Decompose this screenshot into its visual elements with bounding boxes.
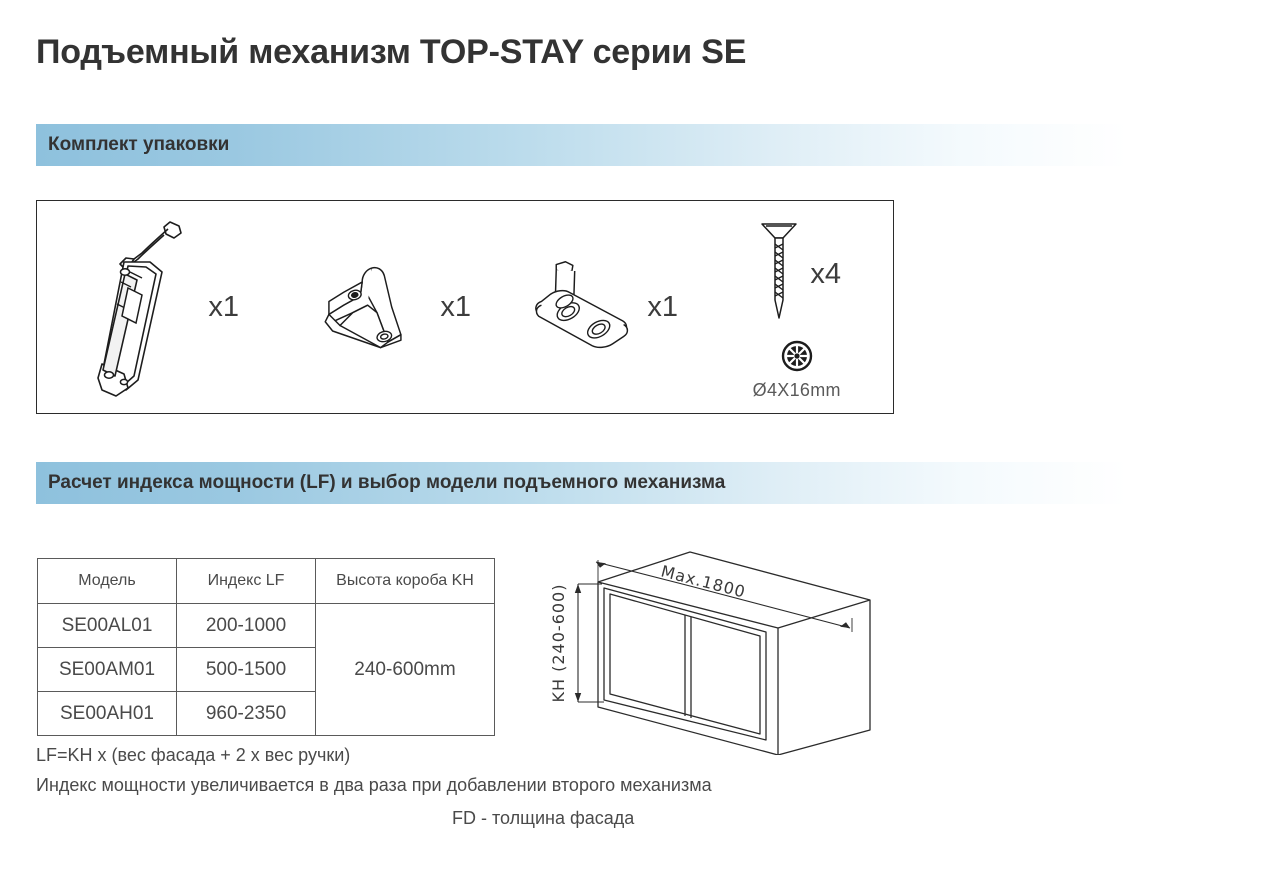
part-quantity-screw: x4 <box>810 258 841 291</box>
part-item-lift-mechanism: x1 <box>37 201 286 413</box>
table-header-row: Модель Индекс LF Высота короба KH <box>38 559 495 604</box>
front-fixing-plate-icon <box>523 212 643 402</box>
cell-model-1: SE00AM01 <box>38 648 177 692</box>
mounting-bracket-icon <box>316 212 436 402</box>
cell-model-0: SE00AL01 <box>38 604 177 648</box>
section-header-package: Комплект упаковки <box>36 124 1128 166</box>
screw-group: x4 Ø4X16mm <box>752 214 841 401</box>
cell-index-1: 500-1500 <box>177 648 316 692</box>
pozidriv-head-icon <box>777 336 817 376</box>
note-front-thickness: FD - толщина фасада <box>452 808 634 829</box>
table-row: SE00AL01 200-1000 240-600mm <box>38 604 495 648</box>
column-header-height: Высота короба KH <box>316 559 495 604</box>
part-item-mounting-bracket: x1 <box>286 201 501 413</box>
cell-index-2: 960-2350 <box>177 692 316 736</box>
part-item-screw: x4 Ø4X16mm <box>700 201 893 413</box>
parts-row: x1 x1 <box>37 201 893 413</box>
column-header-model: Модель <box>38 559 177 604</box>
cabinet-diagram: Max.1800 KH (240-600) <box>530 540 890 755</box>
cell-index-0: 200-1000 <box>177 604 316 648</box>
cell-height-merged: 240-600mm <box>316 604 495 736</box>
screw-icon <box>752 214 806 336</box>
section-header-lf-label: Расчет индекса мощности (LF) и выбор мод… <box>48 472 725 494</box>
note-lf-formula: LF=KH x (вес фасада + 2 x вес ручки) <box>36 745 350 766</box>
section-header-lf: Расчет индекса мощности (LF) и выбор мод… <box>36 462 1128 504</box>
screw-line: x4 <box>752 214 841 336</box>
part-quantity-front-fixing-plate: x1 <box>647 291 678 324</box>
part-quantity-mounting-bracket: x1 <box>440 291 471 324</box>
part-item-front-fixing-plate: x1 <box>501 201 701 413</box>
page-title: Подъемный механизм TOP-STAY серии SE <box>36 33 746 72</box>
section-header-package-label: Комплект упаковки <box>48 134 229 156</box>
screw-specification: Ø4X16mm <box>753 380 841 401</box>
note-double-mechanism: Индекс мощности увеличивается в два раза… <box>36 775 712 796</box>
part-quantity-lift-mechanism: x1 <box>208 291 239 324</box>
height-dimension-line <box>575 584 604 702</box>
column-header-index: Индекс LF <box>177 559 316 604</box>
cell-model-2: SE00AH01 <box>38 692 177 736</box>
width-dimension-label: Max.1800 <box>659 561 748 601</box>
height-dimension-label: KH (240-600) <box>549 584 568 703</box>
package-contents-panel: x1 x1 <box>36 200 894 414</box>
model-selection-table: Модель Индекс LF Высота короба KH SE00AL… <box>37 558 495 736</box>
lift-mechanism-icon <box>84 212 204 402</box>
